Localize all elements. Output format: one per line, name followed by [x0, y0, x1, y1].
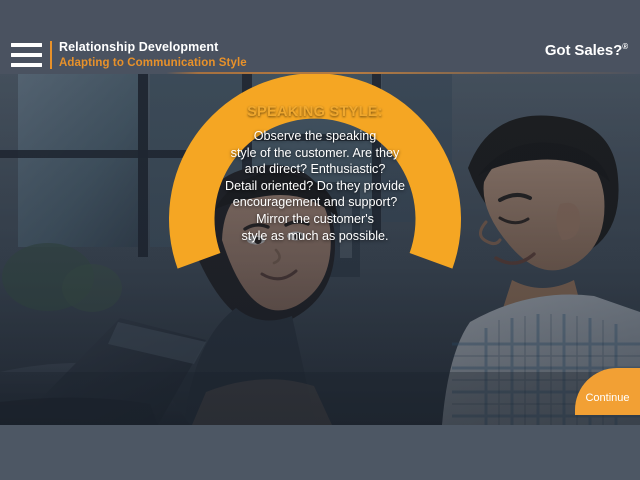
header-underline [0, 72, 640, 74]
callout-body-line: Detail oriented? Do they provide [182, 178, 448, 195]
hamburger-bar [11, 43, 42, 47]
callout-text-block: SPEAKING STYLE: Observe the speaking sty… [182, 104, 448, 244]
header-bar: Relationship Development Adapting to Com… [0, 0, 640, 74]
callout-body: Observe the speaking style of the custom… [182, 128, 448, 244]
callout-heading: SPEAKING STYLE: [182, 104, 448, 120]
brand-logo: Got Sales?® [545, 42, 628, 59]
registered-mark-icon: ® [622, 42, 628, 51]
brand-name: Got Sales? [545, 42, 622, 59]
callout-body-line: style as much as possible. [182, 228, 448, 245]
course-title: Relationship Development [59, 40, 247, 55]
callout-body-line: Mirror the customer's [182, 211, 448, 228]
callout-body-line: style of the customer. Are they [182, 145, 448, 162]
hamburger-bar [11, 63, 42, 67]
hamburger-bar [11, 53, 42, 57]
footer-bar [0, 425, 640, 480]
callout-body-line: Observe the speaking [182, 128, 448, 145]
hamburger-menu-icon[interactable] [11, 43, 42, 67]
slide-stage: SPEAKING STYLE: Observe the speaking sty… [0, 0, 640, 480]
lesson-subtitle: Adapting to Communication Style [59, 56, 247, 71]
header-title-group: Relationship Development Adapting to Com… [59, 40, 247, 71]
callout-body-line: encouragement and support? [182, 194, 448, 211]
callout-body-line: and direct? Enthusiastic? [182, 161, 448, 178]
header-divider [50, 41, 52, 69]
